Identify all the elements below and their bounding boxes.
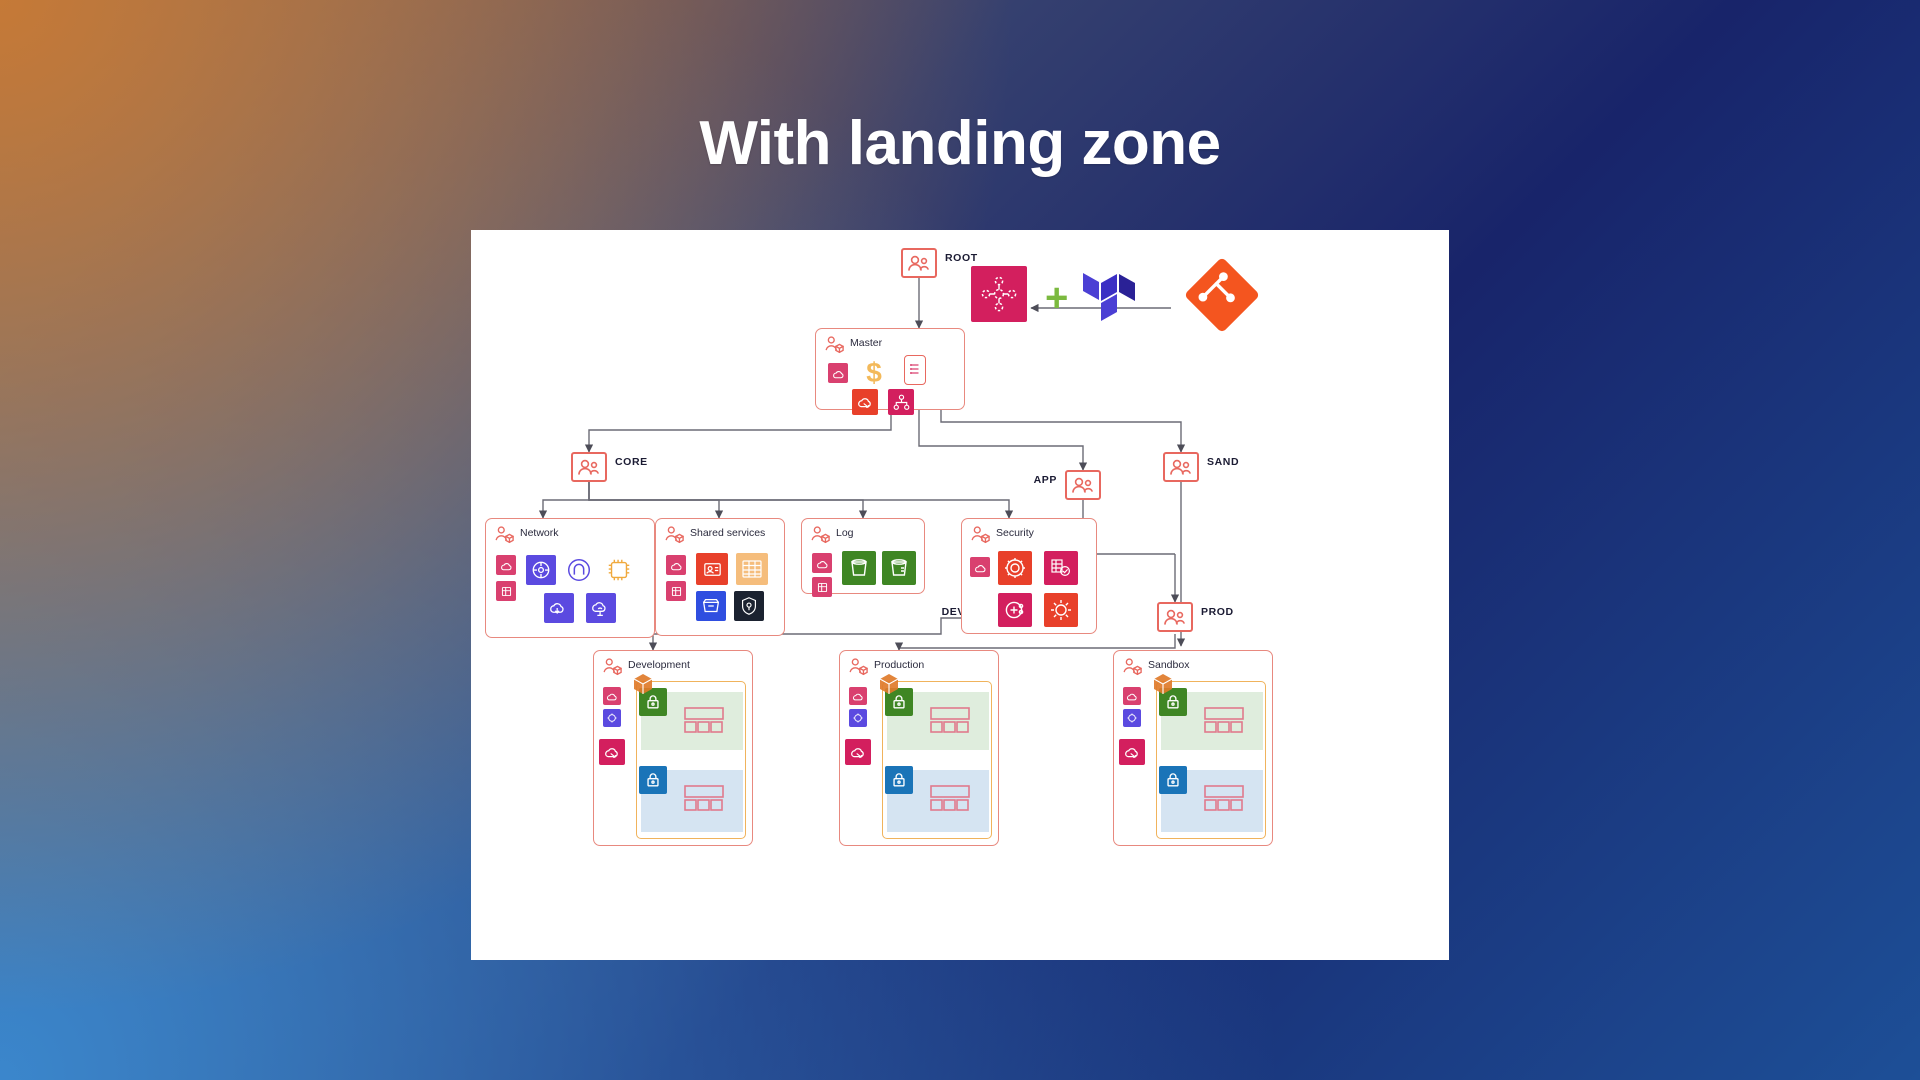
organizational-unit-icon: [1065, 470, 1101, 500]
ou-node-prod[interactable]: PROD: [1157, 602, 1193, 632]
plus-icon: +: [1045, 278, 1068, 318]
account-header-log: Log: [810, 525, 854, 545]
direct-connect-icon: [604, 555, 634, 585]
vpc-container: [882, 681, 992, 839]
account-network[interactable]: Network: [485, 518, 655, 638]
account-security[interactable]: Security: [961, 518, 1097, 634]
private-subnet-lock-icon: [1159, 766, 1187, 794]
secrets-manager-icon: [734, 591, 764, 621]
ou-node-app[interactable]: APP: [1065, 470, 1101, 500]
config-icon: [1123, 709, 1141, 727]
account-header-network: Network: [494, 525, 559, 545]
aws-account-icon: [824, 335, 844, 355]
ou-node-core[interactable]: CORE: [571, 452, 607, 482]
organizational-unit-icon: [1157, 602, 1193, 632]
account-sandbox[interactable]: Sandbox: [1113, 650, 1273, 846]
inspector-icon: [1044, 593, 1078, 627]
account-header-security: Security: [970, 525, 1034, 545]
account-log[interactable]: Log: [801, 518, 925, 594]
account-header-shared-services: Shared services: [664, 525, 765, 545]
account-header-master: Master: [824, 335, 882, 355]
vpc-icon: [876, 671, 902, 697]
account-production[interactable]: Production: [839, 650, 999, 846]
ou-label-core: CORE: [615, 456, 648, 468]
cost-explorer-dollar-icon: $: [860, 355, 888, 389]
route53-icon: [564, 555, 594, 585]
aws-account-icon: [664, 525, 684, 545]
git-logo: [1183, 256, 1261, 339]
ou-label-prod: PROD: [1201, 606, 1234, 618]
account-title-production: Production: [874, 659, 924, 671]
security-hub-icon: [1044, 551, 1078, 585]
account-title-master: Master: [850, 337, 882, 349]
ec2-instances-icon: [1201, 704, 1247, 738]
managed-ad-icon: [696, 553, 728, 585]
organizational-unit-icon: [571, 452, 607, 482]
private-subnet-lock-icon: [885, 766, 913, 794]
ec2-instances-icon: [681, 704, 727, 738]
ec2-instances-icon: [927, 782, 973, 816]
transit-gateway-icon: [526, 555, 556, 585]
s3-bucket-icon: [842, 551, 876, 585]
account-title-network: Network: [520, 527, 559, 539]
cloudwatch-icon: [828, 363, 848, 383]
private-subnet-lock-icon: [639, 766, 667, 794]
cloudformation-icon: [599, 739, 625, 765]
ou-label-app: APP: [1034, 474, 1057, 486]
vpc-icon: [630, 671, 656, 697]
cloud-router-icon: [586, 593, 616, 623]
slide: With landing zone: [0, 0, 1920, 1080]
ou-label-sand: SAND: [1207, 456, 1239, 468]
directory-table-icon: [736, 553, 768, 585]
aws-account-icon: [810, 525, 830, 545]
vpc-icon: [1150, 671, 1176, 697]
account-master[interactable]: Master $: [815, 328, 965, 410]
vpn-gateway-icon: [544, 593, 574, 623]
ec2-instances-icon: [927, 704, 973, 738]
service-catalog-icon: [904, 355, 926, 385]
iam-icon: [998, 593, 1032, 627]
account-title-shared-services: Shared services: [690, 527, 765, 539]
cloudformation-icon: [852, 389, 878, 415]
cloudwatch-icon: [496, 555, 516, 575]
aws-account-icon: [602, 657, 622, 677]
service-catalog-icon: [696, 591, 726, 621]
cloudformation-icon: [1119, 739, 1145, 765]
organizational-unit-icon: [901, 248, 937, 278]
aws-account-icon: [970, 525, 990, 545]
account-shared-services[interactable]: Shared services: [655, 518, 785, 636]
account-title-sandbox: Sandbox: [1148, 659, 1189, 671]
svg-text:$: $: [866, 357, 882, 388]
page-title: With landing zone: [0, 108, 1920, 179]
ou-node-sand[interactable]: SAND: [1163, 452, 1199, 482]
guardduty-icon: [998, 551, 1032, 585]
config-icon: [603, 709, 621, 727]
aws-organizations-icon: [971, 266, 1027, 322]
aws-account-icon: [1122, 657, 1142, 677]
aws-account-icon: [848, 657, 868, 677]
cloudwatch-icon: [812, 553, 832, 573]
s3-bucket-logs-icon: [882, 551, 916, 585]
cloudwatch-icon: [1123, 687, 1141, 705]
account-title-development: Development: [628, 659, 690, 671]
config-icon: [849, 709, 867, 727]
architecture-diagram-canvas: ROOT Master $: [471, 230, 1449, 960]
ec2-instances-icon: [1201, 782, 1247, 816]
cloudformation-icon: [845, 739, 871, 765]
cloudwatch-icon: [666, 555, 686, 575]
cloudwatch-icon: [970, 557, 990, 577]
vpc-container: [1156, 681, 1266, 839]
config-icon: [812, 577, 832, 597]
aws-account-icon: [494, 525, 514, 545]
organizations-icon: [888, 389, 914, 415]
vpc-container: [636, 681, 746, 839]
cloudwatch-icon: [603, 687, 621, 705]
ou-node-root[interactable]: ROOT: [901, 248, 937, 278]
organizational-unit-icon: [1163, 452, 1199, 482]
terraform-logo: [1083, 266, 1139, 333]
account-development[interactable]: Development: [593, 650, 753, 846]
ou-label-root: ROOT: [945, 252, 978, 264]
cloudwatch-icon: [849, 687, 867, 705]
account-title-log: Log: [836, 527, 854, 539]
account-title-security: Security: [996, 527, 1034, 539]
config-icon: [666, 581, 686, 601]
config-icon: [496, 581, 516, 601]
ec2-instances-icon: [681, 782, 727, 816]
